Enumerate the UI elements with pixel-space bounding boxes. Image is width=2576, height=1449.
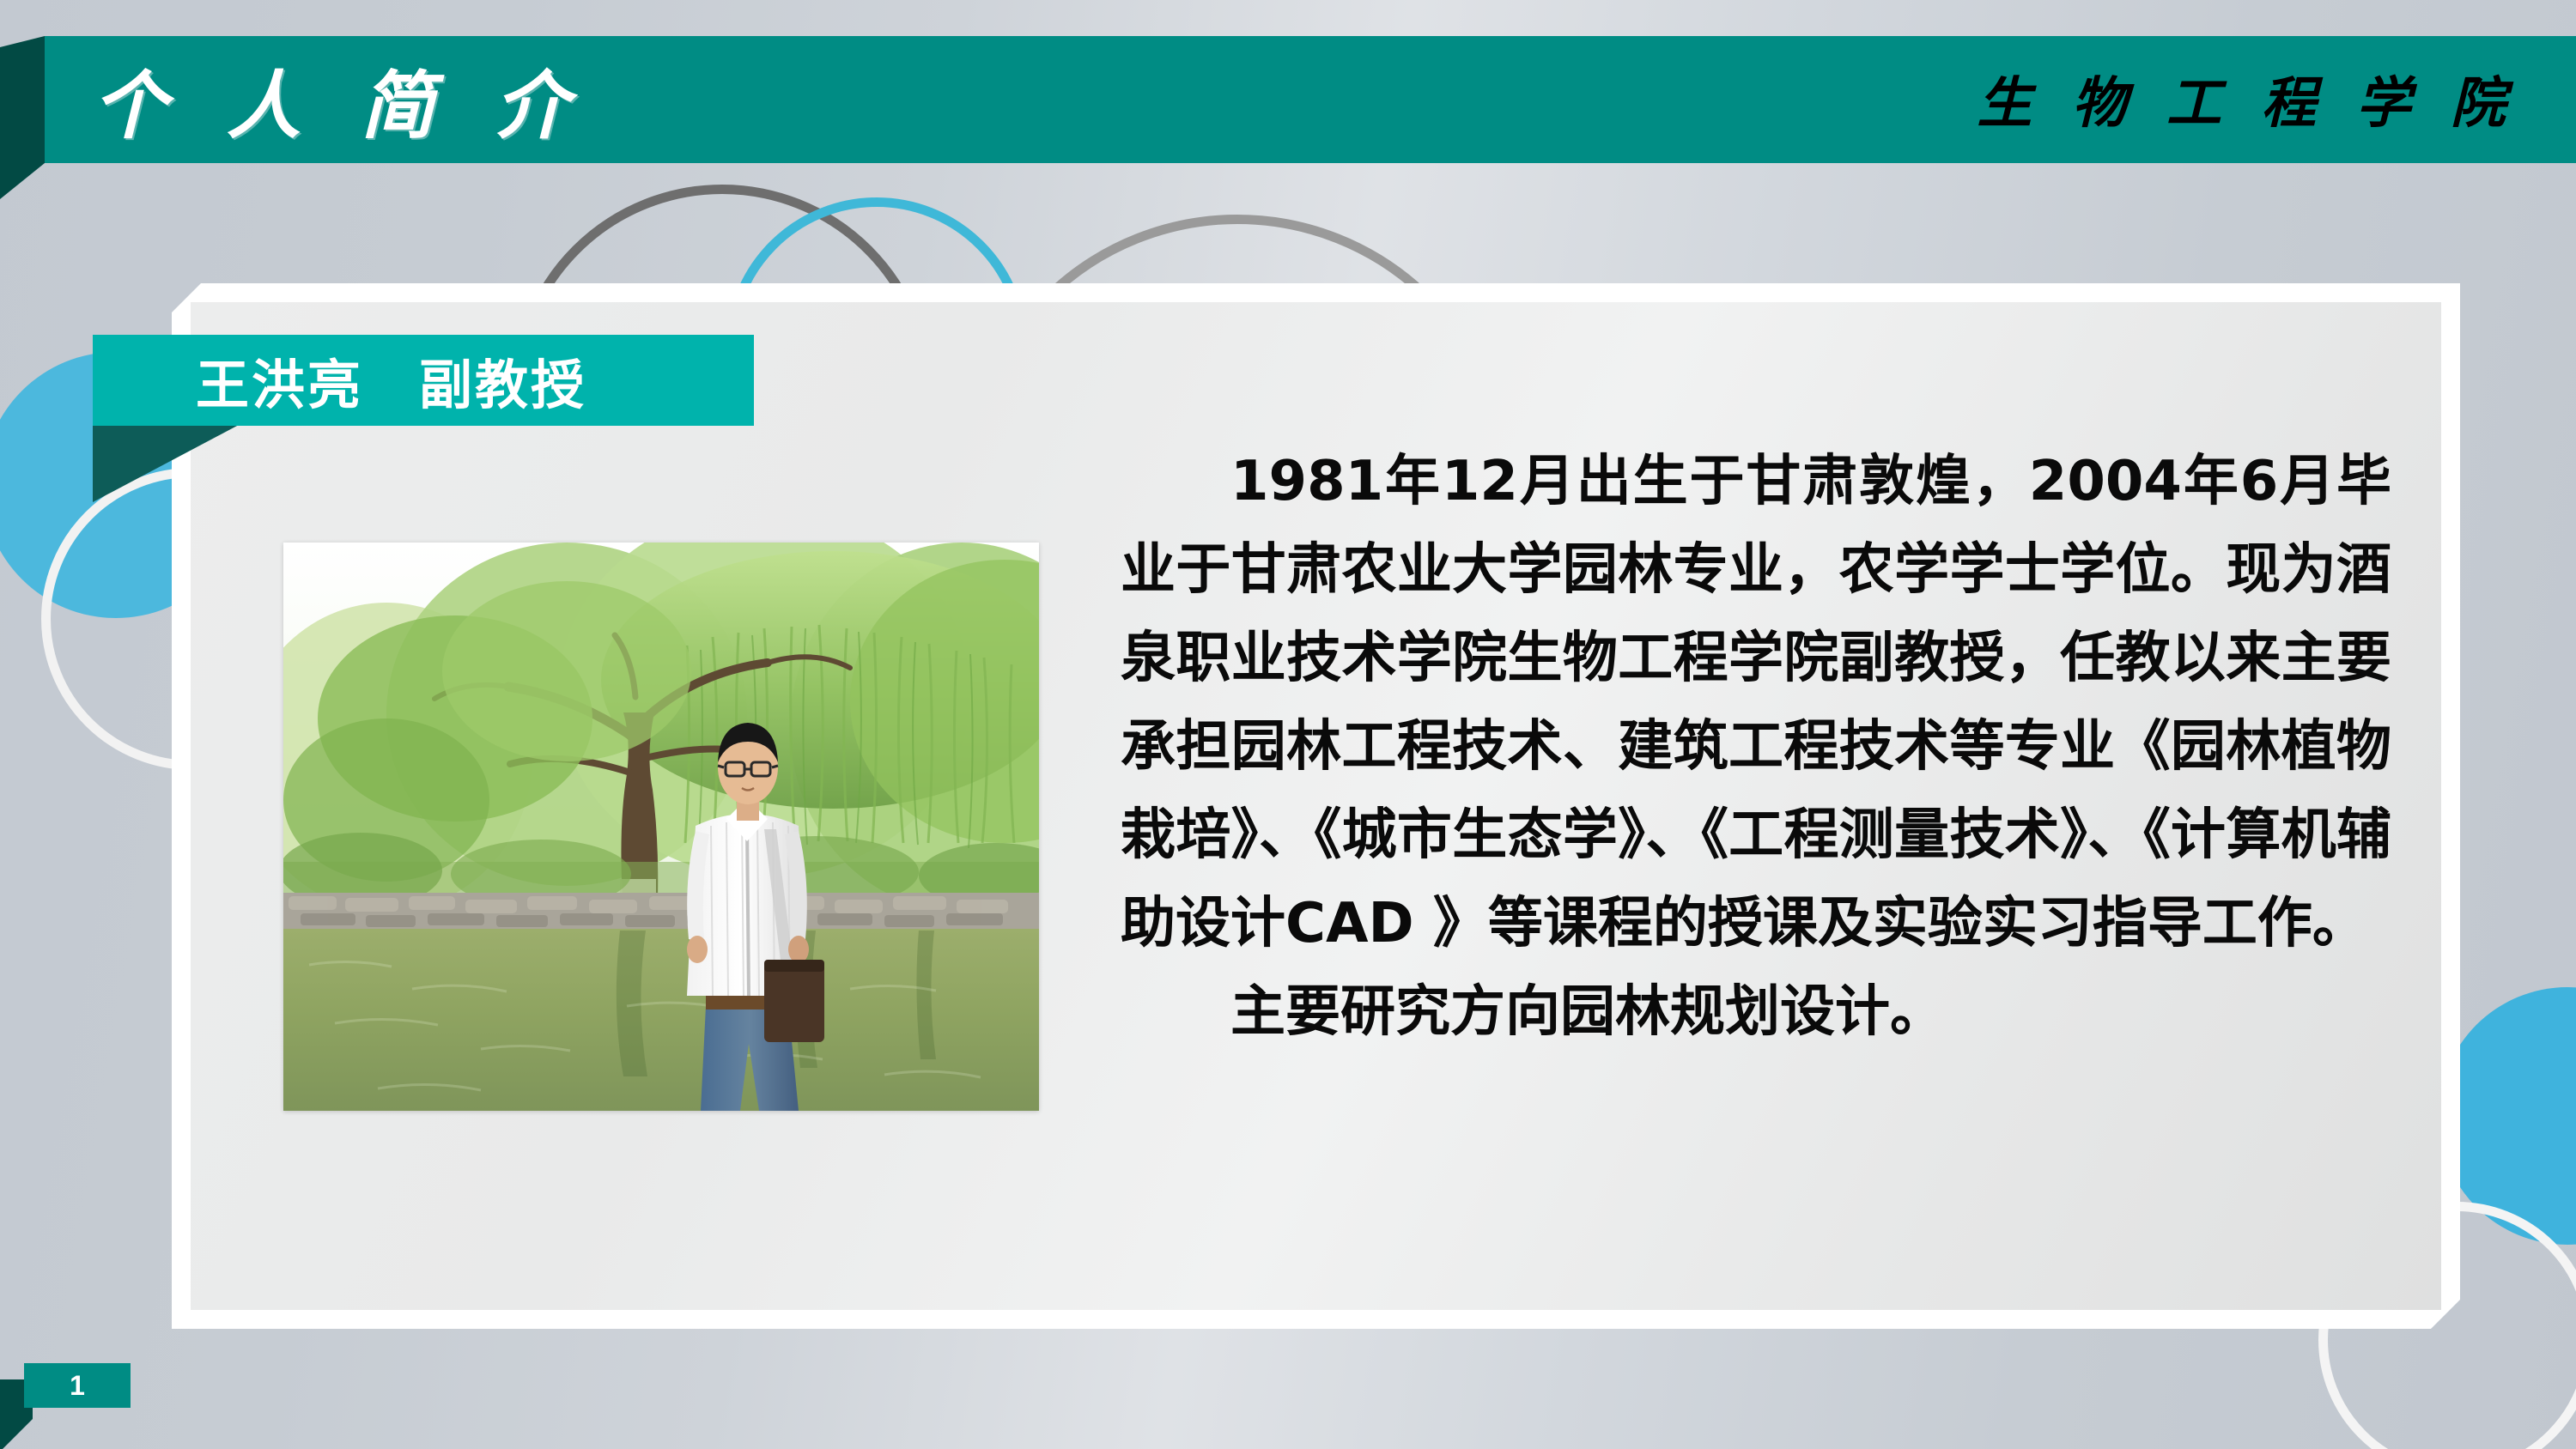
organization-title: 生 物 工 程 学 院 — [1978, 43, 2516, 155]
portrait-photo — [283, 543, 1039, 1111]
biography-paragraph-1: 1981年12月出生于甘肃敦煌，2004年6月毕业于甘肃农业大学园林专业，农学学… — [1121, 438, 2391, 968]
biography-text: 1981年12月出生于甘肃敦煌，2004年6月毕业于甘肃农业大学园林专业，农学学… — [1121, 438, 2391, 1057]
page-title: 个 人 简 介 — [93, 43, 586, 155]
portrait-photo-graphic — [283, 543, 1039, 1111]
slide-root: 个 人 简 介 生 物 工 程 学 院 — [0, 0, 2576, 1449]
biography-paragraph-2: 主要研究方向园林规划设计。 — [1121, 968, 2391, 1057]
name-badge: 王洪亮 副教授 — [93, 335, 754, 426]
name-badge-label: 王洪亮 副教授 — [93, 342, 586, 419]
page-number-badge: 1 — [24, 1363, 131, 1408]
